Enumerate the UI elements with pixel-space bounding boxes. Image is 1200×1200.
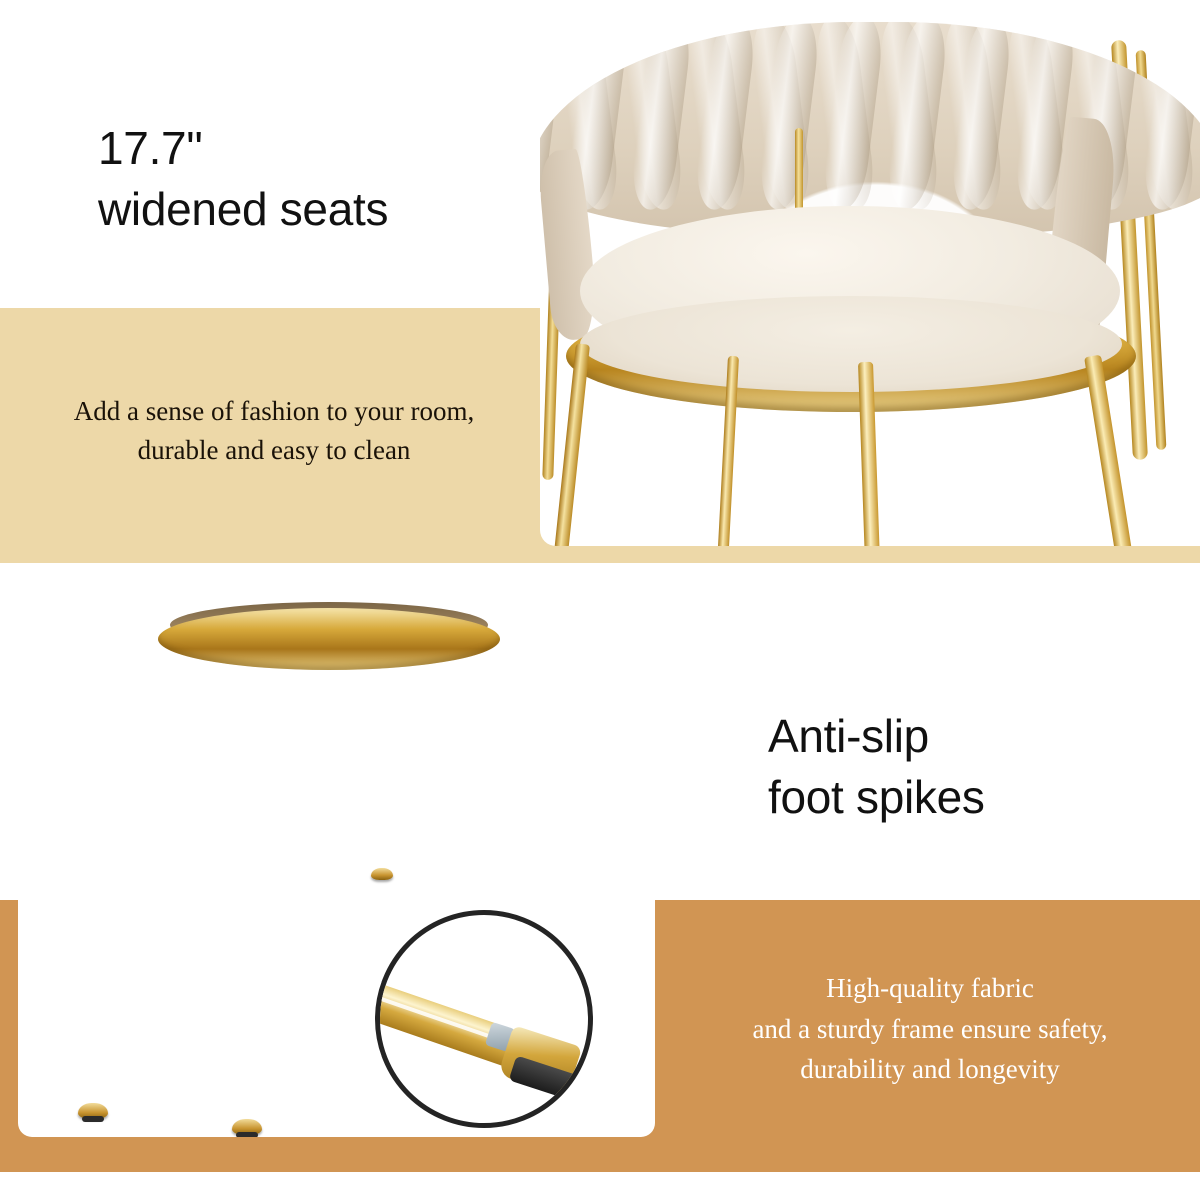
top-product-photo: Close-up of beige woven velvet chair bac… xyxy=(540,0,1200,546)
gold-leg-2 xyxy=(240,644,275,1136)
bottom-headline-line-1: Anti-slip xyxy=(768,710,929,762)
bottom-caption-line-1: High-quality fabric xyxy=(660,968,1200,1009)
bottom-caption-line-2: and a sturdy frame ensure safety, xyxy=(660,1009,1200,1050)
foot-spike-detail-inset: Magnified circular inset of a gold leg t… xyxy=(375,910,593,1128)
gold-leg-front-left xyxy=(554,343,590,546)
top-caption-line-1: Add a sense of fashion to your room, xyxy=(0,392,548,431)
bottom-headline-line-2: foot spikes xyxy=(768,767,1188,828)
anti-slip-foot-cap-3 xyxy=(371,868,393,880)
bottom-product-photo: Four splayed gold tapered chair legs bel… xyxy=(18,600,655,1137)
chair-legs-illustration: Magnified circular inset of a gold leg t… xyxy=(18,600,655,1137)
gold-leg-3 xyxy=(380,646,400,926)
gold-leg-1 xyxy=(54,625,131,1117)
chair-illustration-top xyxy=(540,0,1200,546)
top-section: 17.7" widened seats Add a sense of fashi… xyxy=(0,0,1200,563)
top-headline: 17.7" widened seats xyxy=(98,118,518,239)
top-headline-line-1: 17.7" xyxy=(98,122,202,174)
gold-leg-front-right xyxy=(1084,355,1132,546)
seat-cushion-face xyxy=(580,296,1122,392)
bottom-headline: Anti-slip foot spikes xyxy=(768,706,1188,827)
top-caption: Add a sense of fashion to your room, dur… xyxy=(0,392,548,470)
bottom-caption: High-quality fabric and a sturdy frame e… xyxy=(660,968,1200,1090)
rubber-pad-2 xyxy=(236,1132,258,1137)
bottom-white-strip xyxy=(0,1172,1200,1200)
top-caption-line-2: durable and easy to clean xyxy=(0,431,548,470)
infographic-page: 17.7" widened seats Add a sense of fashi… xyxy=(0,0,1200,1200)
top-headline-line-2: widened seats xyxy=(98,179,518,240)
rubber-pad-1 xyxy=(82,1116,104,1122)
bottom-caption-line-3: durability and longevity xyxy=(660,1049,1200,1090)
